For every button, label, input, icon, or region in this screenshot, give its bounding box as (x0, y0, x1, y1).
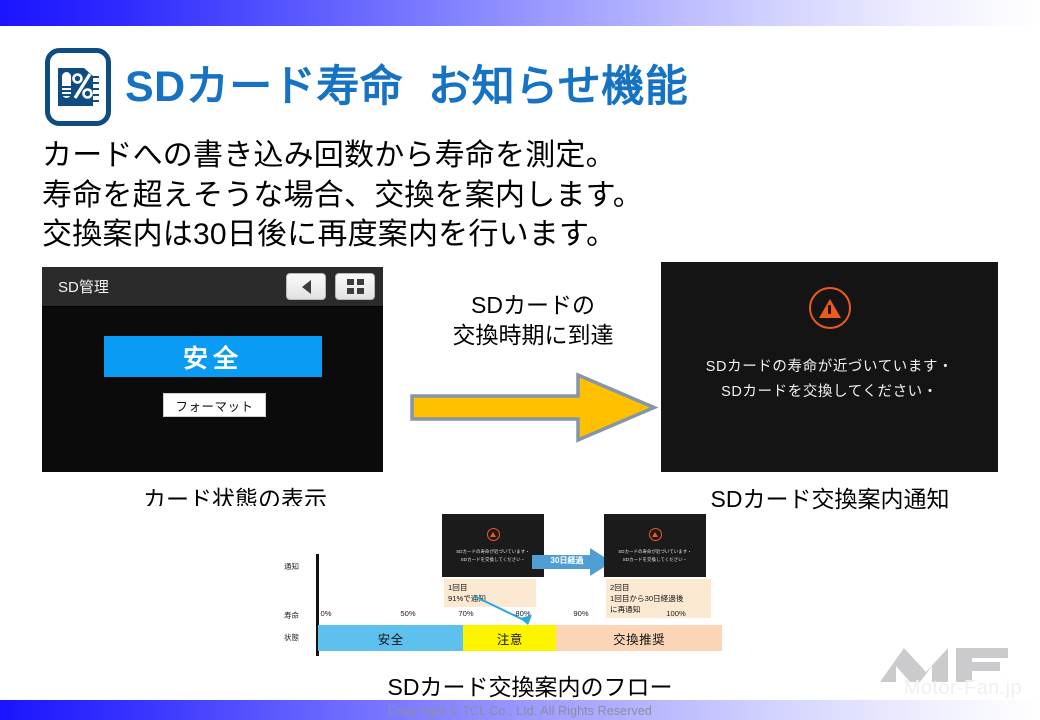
band-safe: 安全 (318, 625, 463, 651)
sd-management-screen: SD管理 安全 フォーマット (42, 267, 383, 472)
tick-90: 90% (573, 609, 588, 618)
mini-notice-message-second: SDカードの寿命が近づいています・ SDカードを交換してください・ (618, 548, 692, 563)
band-replace: 交換推奨 (556, 625, 722, 651)
back-triangle-icon (302, 280, 311, 294)
mini-notice-screen-second: SDカードの寿命が近づいています・ SDカードを交換してください・ (604, 514, 706, 577)
format-button[interactable]: フォーマット (163, 393, 266, 417)
tick-80: 80% (515, 609, 530, 618)
watermark-text: Motor-Fan.jp (904, 677, 1022, 700)
transition-label: SDカードの 交換時期に到達 (402, 290, 664, 351)
copyright-footer: Copy right © TCL Co., Ltd. All Rights Re… (0, 704, 1040, 718)
card-status-badge: 安全 (104, 336, 322, 377)
notification-flow-diagram: 通知 寿命 状態 SDカードの寿命が近づいています・ SDカードを交換してくださ… (282, 508, 722, 656)
sd-management-header: SD管理 (42, 267, 383, 307)
warning-message: SDカードの寿命が近づいています・ SDカードを交換してください・ (706, 355, 953, 406)
caption-left: カード状態の表示 (90, 480, 380, 506)
tick-70: 70% (458, 609, 473, 618)
caption-flow: SDカード交換案内のフロー (340, 668, 720, 702)
sd-management-title: SD管理 (58, 276, 277, 297)
top-gradient-bar (0, 0, 1040, 26)
title-row: SDカード寿命 お知らせ機能 (45, 48, 688, 126)
warning-triangle-icon (809, 287, 851, 329)
back-button[interactable] (286, 273, 326, 300)
tick-100: 100% (666, 609, 685, 618)
flow-row-label-state: 状態 (284, 632, 299, 643)
grid-menu-icon (347, 279, 364, 294)
right-arrow-icon (408, 370, 658, 445)
mini-notice-screen-first: SDカードの寿命が近づいています・ SDカードを交換してください・ (442, 514, 544, 577)
replacement-notice-screen: SDカードの寿命が近づいています・ SDカードを交換してください・ (661, 262, 998, 472)
thirty-day-arrow-label: 30日経過 (538, 555, 596, 566)
description-text: カードへの書き込み回数から寿命を測定。 寿命を超えそうな場合、交換を案内します。… (42, 136, 702, 255)
sd-management-body: 安全 フォーマット (42, 307, 383, 472)
status-band-row: 安全 注意 交換推奨 (318, 625, 722, 651)
slide-root: SDカード寿命 お知らせ機能 カードへの書き込み回数から寿命を測定。 寿命を超え… (0, 0, 1040, 720)
life-axis-ticks: 0% 50% 70% 80% 90% 100% (316, 609, 722, 621)
grid-menu-button[interactable] (335, 273, 375, 300)
sd-card-percent-icon (45, 48, 111, 126)
band-caution: 注意 (463, 625, 556, 651)
flow-row-label-notify: 通知 (284, 561, 299, 572)
tick-50: 50% (400, 609, 415, 618)
tick-0: 0% (321, 609, 332, 618)
mini-notice-message-first: SDカードの寿命が近づいています・ SDカードを交換してください・ (456, 548, 530, 563)
flow-row-label-life: 寿命 (284, 610, 299, 621)
page-title: SDカード寿命 お知らせ機能 (125, 66, 688, 109)
